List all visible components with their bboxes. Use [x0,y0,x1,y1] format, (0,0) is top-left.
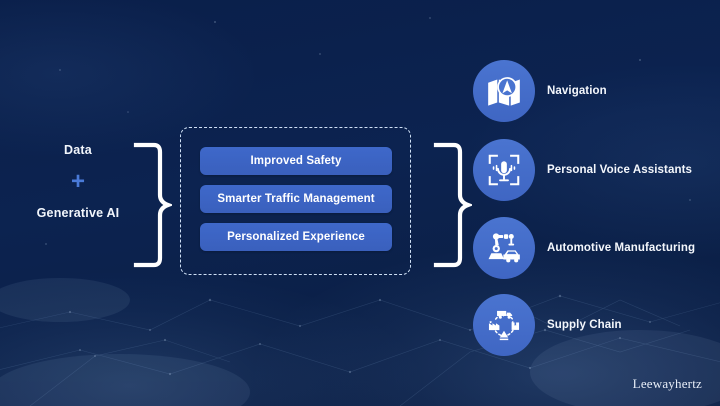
diagram-canvas: Data + Generative AI Improved Safety Sma… [0,0,720,406]
benefit-chip-personalized-experience[interactable]: Personalized Experience [200,223,392,251]
outcome-label-supply-chain: Supply Chain [547,319,622,331]
outcome-label-personal-voice-assistants: Personal Voice Assistants [547,164,692,176]
outcome-badge-navigation [473,60,535,122]
brand-watermark: Leewayhertz [633,376,702,392]
right-curly-brace-icon [432,140,472,270]
outcome-badge-automotive-manufacturing [473,217,535,279]
outcome-row-supply-chain[interactable]: Supply Chain [473,294,622,356]
outcome-row-personal-voice-assistants[interactable]: Personal Voice Assistants [473,139,692,201]
inputs-group: Data + Generative AI [18,142,138,221]
plus-icon: + [18,165,138,199]
microphone-scan-icon [485,151,523,189]
supply-chain-cycle-icon [485,306,523,344]
outcome-row-automotive-manufacturing[interactable]: Automotive Manufacturing [473,217,695,279]
map-navigation-icon [485,72,523,110]
benefit-chip-improved-safety[interactable]: Improved Safety [200,147,392,175]
outcome-badge-personal-voice-assistants [473,139,535,201]
input-label-data: Data [18,142,138,158]
input-label-generative-ai: Generative AI [18,205,138,221]
left-curly-brace-icon [132,140,172,270]
benefits-list: Improved Safety Smarter Traffic Manageme… [200,147,392,251]
outcome-label-navigation: Navigation [547,85,607,97]
outcome-row-navigation[interactable]: Navigation [473,60,607,122]
outcome-label-automotive-manufacturing: Automotive Manufacturing [547,242,695,254]
robot-arm-car-icon [485,229,523,267]
benefit-chip-smarter-traffic-management[interactable]: Smarter Traffic Management [200,185,392,213]
outcome-badge-supply-chain [473,294,535,356]
